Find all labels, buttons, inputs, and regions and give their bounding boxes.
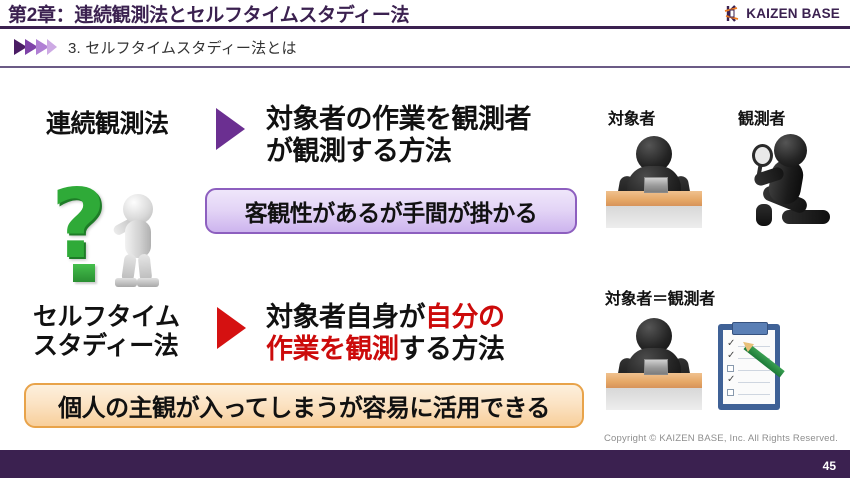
observer-leg-back xyxy=(782,210,830,224)
desk-workpiece xyxy=(644,359,668,375)
callout-continuous: 客観性があるが手間が掛かる xyxy=(205,188,577,234)
copyright-text: Copyright © KAIZEN BASE, Inc. All Rights… xyxy=(604,433,838,444)
statement-selfstudy-line2: 作業を観測する方法 xyxy=(266,333,586,365)
question-mark-base xyxy=(73,264,95,282)
person-kneeling-magnifier-icon xyxy=(744,130,836,228)
row-label-selfstudy-line2: スタディー法 xyxy=(33,332,180,361)
person-at-desk-icon xyxy=(606,130,702,228)
checkbox-empty-icon xyxy=(727,389,734,396)
slide: 第2章：連続観測法とセルフタイムスタディー法 KAIZEN BASE 3. セル… xyxy=(0,0,850,478)
observer-shin xyxy=(756,204,772,226)
statement-continuous-line1: 対象者の作業を観測者 xyxy=(266,103,586,135)
slide-header: 第2章：連続観測法とセルフタイムスタディー法 KAIZEN BASE xyxy=(0,0,850,26)
thinking-person-foot-left xyxy=(115,278,137,287)
clipboard-rule xyxy=(738,382,770,383)
question-mark-glyph: ? xyxy=(51,182,106,268)
statement-selfstudy-line1: 対象者自身が自分の xyxy=(266,301,586,333)
page-number: 45 xyxy=(823,459,836,473)
kaizen-base-logo-icon xyxy=(723,4,742,23)
clipboard-rule xyxy=(738,394,770,395)
question-mark-thinking-person-icon: ? xyxy=(45,178,185,290)
triple-chevron-icon xyxy=(14,39,56,56)
magnifier-lens-icon xyxy=(752,144,773,167)
desk-floor xyxy=(606,388,702,410)
thinking-person-body xyxy=(125,220,151,258)
section-divider xyxy=(0,66,850,68)
statement-selfstudy: 対象者自身が自分の 作業を観測する方法 xyxy=(266,301,586,366)
statement-continuous: 対象者の作業を観測者 が観測する方法 xyxy=(266,103,586,168)
thinking-person-foot-right xyxy=(137,278,159,287)
picture-label-observer: 観測者 xyxy=(738,105,785,129)
checkbox-empty-icon xyxy=(727,365,734,372)
row-label-selfstudy: セルフタイム スタディー法 xyxy=(33,303,180,361)
checkmark-icon: ✓ xyxy=(727,339,735,349)
statement-selfstudy-highlight2: 作業を観測 xyxy=(266,334,399,364)
desk-surface xyxy=(606,191,702,206)
statement-selfstudy-plain1: 対象者自身が xyxy=(266,302,425,332)
row-label-continuous: 連続観測法 xyxy=(46,110,169,139)
statement-selfstudy-plain2: する方法 xyxy=(399,334,505,364)
section-header: 3. セルフタイムスタディー法とは xyxy=(0,29,850,65)
picture-label-subject: 対象者 xyxy=(608,105,655,129)
arrow-triangle-red-icon xyxy=(217,307,246,349)
statement-continuous-line2: が観測する方法 xyxy=(266,135,586,167)
desk-floor xyxy=(606,206,702,228)
clipboard-row xyxy=(727,388,771,398)
checkmark-icon: ✓ xyxy=(727,351,735,361)
clipboard-rule xyxy=(738,370,770,371)
brand-name: KAIZEN BASE xyxy=(746,6,840,21)
page-title: 第2章：連続観測法とセルフタイムスタディー法 xyxy=(0,0,409,27)
clipboard-row: ✓ xyxy=(727,376,771,386)
picture-label-subject-equals-observer: 対象者＝観測者 xyxy=(605,285,715,309)
arrow-triangle-purple-icon xyxy=(216,108,245,150)
checkmark-icon: ✓ xyxy=(727,375,735,385)
person-at-desk-icon-2 xyxy=(606,312,702,410)
callout-selfstudy: 個人の主観が入ってしまうが容易に活用できる xyxy=(24,383,584,428)
desk-workpiece xyxy=(644,177,668,193)
statement-selfstudy-highlight1: 自分の xyxy=(425,302,505,332)
clipboard-pencil-icon: ✓ ✓ ✓ xyxy=(718,318,794,412)
footer-bar xyxy=(0,450,850,478)
clipboard-clip xyxy=(732,322,768,335)
row-label-selfstudy-line1: セルフタイム xyxy=(33,303,180,332)
brand-logo: KAIZEN BASE xyxy=(723,4,850,23)
section-title: 3. セルフタイムスタディー法とは xyxy=(68,37,297,58)
desk-surface xyxy=(606,373,702,388)
observer-head xyxy=(774,134,807,167)
